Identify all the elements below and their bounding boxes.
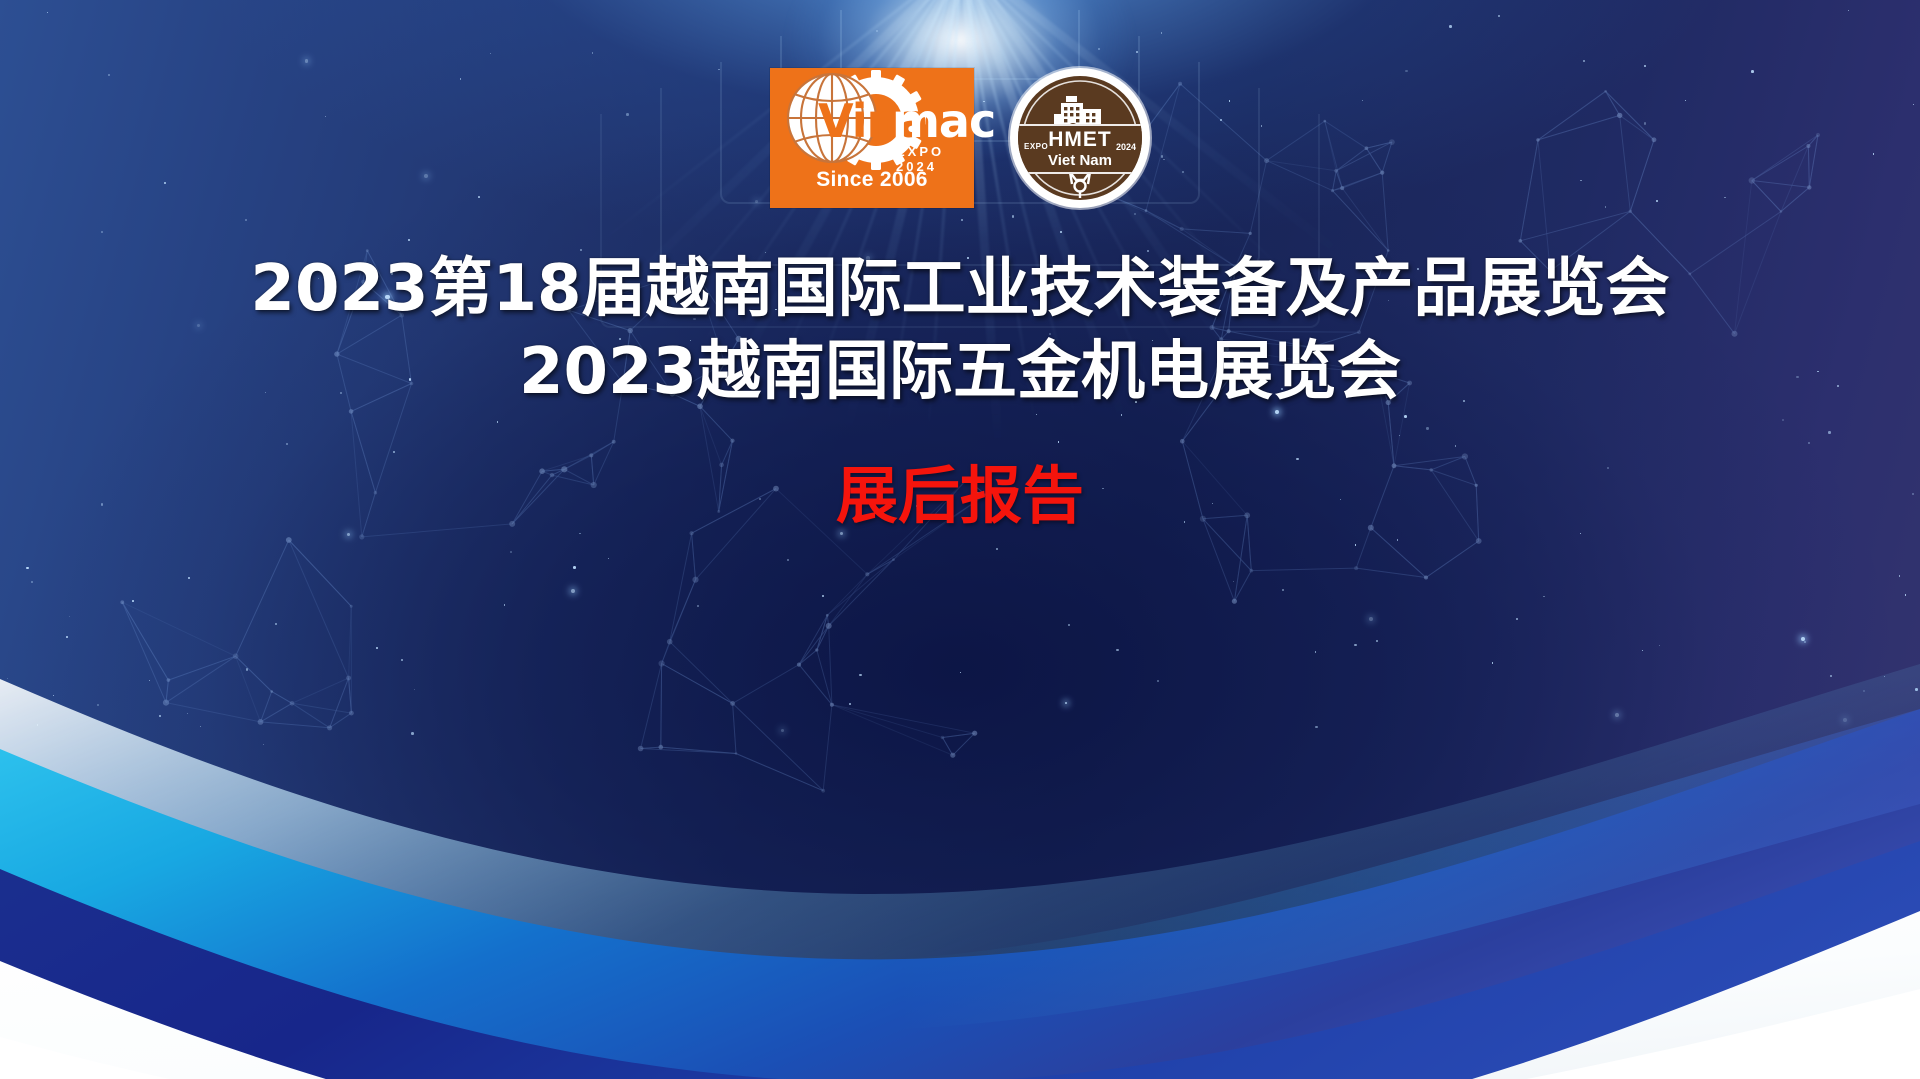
- hmet-vietnam-logo[interactable]: HMET Viet Nam EXPO 2024: [1010, 68, 1150, 208]
- hmet-title-text: HMET: [1048, 129, 1112, 150]
- title-block: 2023第18届越南国际工业技术装备及产品展览会 2023越南国际五金机电展览会…: [0, 248, 1920, 531]
- vinamac-globe-gear-icon: Vina mac EXPO 2024: [774, 68, 970, 172]
- logo-row: Vina mac EXPO 2024 Since 2006: [0, 68, 1920, 208]
- hmet-country-text: Viet Nam: [1048, 152, 1112, 169]
- subtitle-post-show-report: 展后报告: [0, 462, 1920, 530]
- vinamac-expo-year-text: EXPO 2024: [896, 144, 970, 174]
- bottom-wave-decoration: [0, 559, 1920, 1079]
- exhibition-cover-slide: Vina mac EXPO 2024 Since 2006: [0, 0, 1920, 1079]
- title-line-1: 2023第18届越南国际工业技术装备及产品展览会: [0, 248, 1920, 331]
- hmet-year-label: 2024: [1116, 142, 1136, 152]
- vinamac-mac-text: mac: [892, 98, 995, 144]
- hmet-expo-label: EXPO: [1024, 142, 1048, 151]
- title-line-2: 2023越南国际五金机电展览会: [0, 331, 1920, 414]
- vinamac-expo-logo[interactable]: Vina mac EXPO 2024 Since 2006: [770, 68, 974, 208]
